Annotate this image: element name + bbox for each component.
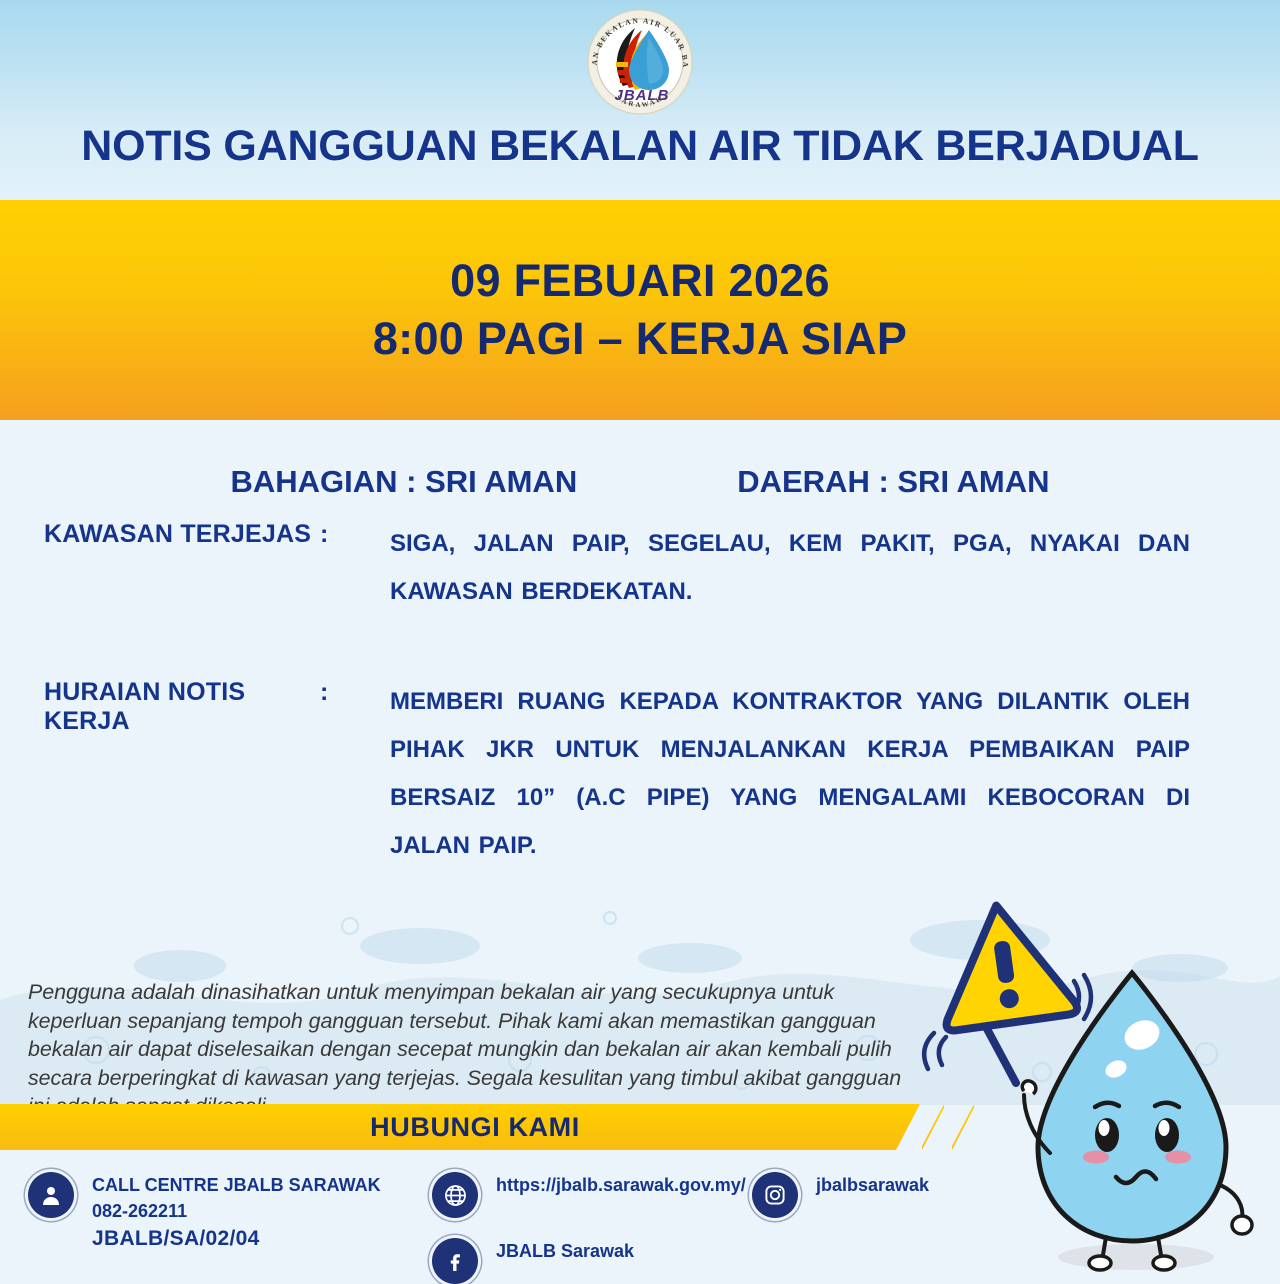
contact-call-centre[interactable]: CALL CENTRE JBALB SARAWAK 082-262211 JBA… bbox=[28, 1172, 381, 1254]
outage-date: 09 FEBUARI 2026 bbox=[450, 252, 830, 310]
water-droplet-mascot bbox=[920, 885, 1280, 1280]
work-description-label: HURAIAN NOTIS KERJA bbox=[0, 678, 320, 870]
division-label: BAHAGIAN : SRI AMAN bbox=[230, 464, 577, 500]
notice-reference: JBALB/SA/02/04 bbox=[92, 1224, 381, 1254]
instagram-handle: jbalbsarawak bbox=[816, 1172, 929, 1199]
work-description-value: MEMBERI RUANG KEPADA KONTRAKTOR YANG DIL… bbox=[390, 678, 1190, 870]
website-url: https://jbalb.sarawak.gov.my/ bbox=[496, 1172, 746, 1199]
globe-icon bbox=[432, 1172, 478, 1218]
work-description-colon: : bbox=[320, 678, 390, 870]
notice-body: BAHAGIAN : SRI AMAN DAERAH : SRI AMAN KA… bbox=[0, 420, 1280, 890]
call-centre-text: CALL CENTRE JBALB SARAWAK 082-262211 JBA… bbox=[92, 1172, 381, 1254]
svg-text:JBALB: JBALB bbox=[614, 87, 669, 104]
date-banner: 09 FEBUARI 2026 8:00 PAGI – KERJA SIAP bbox=[0, 200, 1280, 420]
advisory-text: Pengguna adalah dinasihatkan untuk menyi… bbox=[28, 978, 908, 1121]
affected-area-colon: : bbox=[320, 520, 390, 616]
call-centre-name: CALL CENTRE JBALB SARAWAK bbox=[92, 1173, 381, 1199]
jbalb-logo: JABATAN BEKALAN AIR LUAR BANDAR SARAWAK … bbox=[585, 8, 695, 116]
facebook-icon bbox=[432, 1238, 478, 1284]
contact-bar: HUBUNGI KAMI bbox=[0, 1104, 920, 1150]
district-label: DAERAH : SRI AMAN bbox=[737, 464, 1049, 500]
warning-triangle-icon bbox=[931, 896, 1078, 1031]
outage-time: 8:00 PAGI – KERJA SIAP bbox=[373, 310, 907, 368]
affected-area-label: KAWASAN TERJEJAS bbox=[0, 520, 320, 616]
header-banner: JABATAN BEKALAN AIR LUAR BANDAR SARAWAK … bbox=[0, 0, 1280, 200]
contact-bar-title: HUBUNGI KAMI bbox=[370, 1112, 580, 1143]
call-centre-phone: 082-262211 bbox=[92, 1199, 381, 1225]
person-icon bbox=[28, 1172, 74, 1218]
instagram-icon bbox=[752, 1172, 798, 1218]
field-affected-area: KAWASAN TERJEJAS : SIGA, JALAN PAIP, SEG… bbox=[0, 520, 1280, 616]
facebook-handle: JBALB Sarawak bbox=[496, 1238, 634, 1265]
field-work-description: HURAIAN NOTIS KERJA : MEMBERI RUANG KEPA… bbox=[0, 678, 1280, 870]
contact-facebook[interactable]: JBALB Sarawak bbox=[432, 1238, 634, 1284]
page-title: NOTIS GANGGUAN BEKALAN AIR TIDAK BERJADU… bbox=[0, 122, 1280, 171]
contact-website[interactable]: https://jbalb.sarawak.gov.my/ bbox=[432, 1172, 746, 1218]
region-row: BAHAGIAN : SRI AMAN DAERAH : SRI AMAN bbox=[0, 464, 1280, 500]
contact-instagram[interactable]: jbalbsarawak bbox=[752, 1172, 929, 1218]
affected-area-value: SIGA, JALAN PAIP, SEGELAU, KEM PAKIT, PG… bbox=[390, 520, 1190, 616]
